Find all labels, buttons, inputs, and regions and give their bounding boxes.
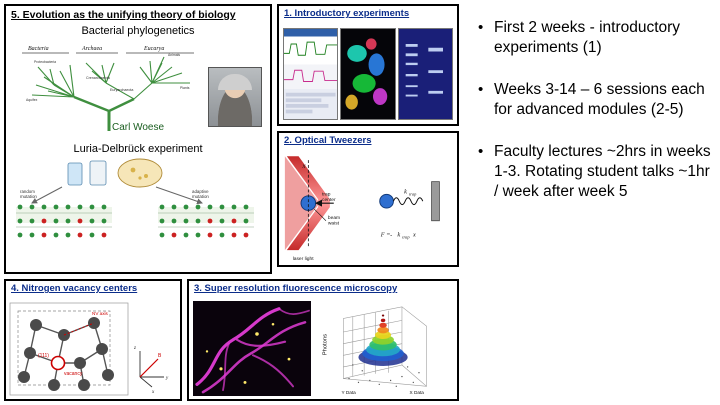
svg-text:k: k <box>397 231 400 238</box>
bullet-list: • First 2 weeks - introductory experimen… <box>478 18 714 224</box>
carl-woese-caption: Carl Woese <box>6 122 270 133</box>
svg-text:=-: =- <box>387 231 393 238</box>
gel-electrophoresis-image <box>398 28 453 120</box>
list-item: • Faculty lectures ~2hrs in weeks 1-3. R… <box>478 142 714 202</box>
svg-text:y: y <box>165 376 169 381</box>
svg-text:trap: trap <box>322 191 331 197</box>
svg-text:Archaea: Archaea <box>81 46 102 52</box>
bullet-marker-icon: • <box>478 18 494 38</box>
svg-text:NV axis: NV axis <box>92 311 109 316</box>
svg-text:laser light: laser light <box>293 256 315 262</box>
phylogenetic-tree-figure: Bacteria Archaea Eucarya Crenarchaeota E… <box>6 39 270 139</box>
svg-text:F: F <box>380 231 385 238</box>
svg-text:trap: trap <box>409 191 417 196</box>
panel-evolution-subtitle-phylogenetics: Bacterial phylogenetics <box>6 25 270 37</box>
gel-lanes <box>399 29 452 119</box>
svg-text:x: x <box>301 163 305 170</box>
luria-delbruck-figure: random mutation adaptive mutation <box>6 157 270 249</box>
panel-nitrogen-vacancy-centers[interactable]: 4. Nitrogen vacancy centers vacancy (111… <box>4 279 182 401</box>
micrograph-cells <box>341 29 394 119</box>
bullet-marker-icon: • <box>478 142 494 162</box>
svg-text:x: x <box>412 231 416 238</box>
bullet-text: Weeks 3-14 – 6 sessions each for advance… <box>494 80 714 120</box>
svg-text:Eucarya: Eucarya <box>143 46 164 52</box>
panel-nv-centers-title: 4. Nitrogen vacancy centers <box>6 281 180 295</box>
svg-text:Crenarchaeota: Crenarchaeota <box>86 76 110 80</box>
plot-x2-axis-label: X Data <box>410 390 425 396</box>
panel-evolution-title: 5. Evolution as the unifying theory of b… <box>6 6 270 21</box>
plot-y-axis-label: Photons <box>322 334 328 355</box>
panel-super-resolution-microscopy[interactable]: 3. Super resolution fluorescence microsc… <box>187 279 459 401</box>
svg-text:Bacteria: Bacteria <box>28 46 49 52</box>
photo-hair-shape <box>218 74 252 90</box>
svg-text:Euryarchaeota: Euryarchaeota <box>110 88 133 92</box>
svg-text:z: z <box>133 346 136 351</box>
plot-x1-axis-label: Y Data <box>341 390 356 396</box>
list-item: • Weeks 3-14 – 6 sessions each for advan… <box>478 80 714 120</box>
bullet-text: First 2 weeks - introductory experiments… <box>494 18 714 58</box>
oscilloscope-screenshot <box>283 28 338 120</box>
panel-evolution[interactable]: 5. Evolution as the unifying theory of b… <box>4 4 272 274</box>
slide-canvas: 5. Evolution as the unifying theory of b… <box>0 0 720 405</box>
svg-text:Proteobacteria: Proteobacteria <box>34 60 56 64</box>
psf-3d-surface-plot: Photons Y Data X Data <box>315 301 453 396</box>
svg-text:Animals: Animals <box>168 53 180 57</box>
svg-text:k: k <box>404 188 407 195</box>
svg-text:mutation: mutation <box>20 194 37 199</box>
panel-evolution-subtitle-luria: Luria-Delbrück experiment <box>6 143 270 155</box>
luria-delbruck-svg: random mutation adaptive mutation <box>6 157 268 247</box>
intro-experiment-images <box>283 28 453 120</box>
nv-center-lattice-diagram: vacancy (111) NV axis z y x B <box>8 301 182 399</box>
svg-text:vacancy: vacancy <box>64 371 83 377</box>
svg-text:waist: waist <box>328 221 340 227</box>
bullet-text: Faculty lectures ~2hrs in weeks 1-3. Rot… <box>494 142 714 202</box>
panel-optical-tweezers[interactable]: 2. Optical Tweezers x trap <box>277 131 459 267</box>
svg-text:mutation: mutation <box>192 194 209 199</box>
panel-introductory-experiments[interactable]: 1. Introductory experiments <box>277 4 459 126</box>
optical-tweezers-diagram: x trap center beam waist laser light k t… <box>279 153 457 267</box>
carl-woese-photo <box>208 67 262 127</box>
svg-text:trap: trap <box>402 234 410 239</box>
svg-text:Aquifex: Aquifex <box>26 98 38 102</box>
panel-optical-tweezers-title: 2. Optical Tweezers <box>279 133 457 147</box>
fluorescence-micrograph <box>340 28 395 120</box>
svg-text:x: x <box>151 390 155 395</box>
svg-text:center: center <box>322 197 336 203</box>
panel-introductory-experiments-title: 1. Introductory experiments <box>279 6 457 20</box>
svg-text:Plants: Plants <box>180 86 190 90</box>
fluorescence-filaments-image <box>193 301 311 396</box>
bullet-marker-icon: • <box>478 80 494 100</box>
super-resolution-figures: Photons Y Data X Data <box>193 301 453 396</box>
list-item: • First 2 weeks - introductory experimen… <box>478 18 714 58</box>
svg-text:beam: beam <box>328 215 340 221</box>
svg-text:B: B <box>158 353 162 359</box>
panel-super-resolution-title: 3. Super resolution fluorescence microsc… <box>189 281 457 295</box>
photon-distribution-plot: Photons Y Data X Data <box>315 301 453 396</box>
filament-traces <box>193 301 311 396</box>
svg-text:(111): (111) <box>38 353 49 359</box>
oscilloscope-trace <box>284 29 337 119</box>
